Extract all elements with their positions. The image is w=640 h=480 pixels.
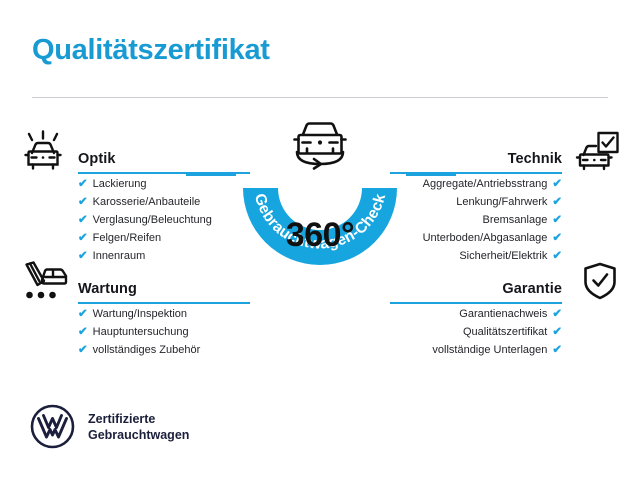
- list-item: ✔Wartung/Inspektion: [78, 304, 250, 322]
- check-icon: ✔: [552, 178, 562, 190]
- section-underline: [390, 302, 562, 304]
- list-item-label: Hauptuntersuchung: [93, 326, 189, 338]
- section-underline: [390, 172, 562, 174]
- list-item: Aggregate/Antriebsstrang✔: [390, 174, 562, 192]
- page-title: Qualitätszertifikat: [32, 34, 270, 67]
- section-title: Wartung: [78, 281, 250, 302]
- list-item-label: Karosserie/Anbauteile: [93, 196, 201, 208]
- list-item: Garantienachweis✔: [390, 304, 562, 322]
- list-item: ✔vollständiges Zubehör: [78, 340, 250, 358]
- list-item-label: Bremsanlage: [483, 214, 548, 226]
- check-icon: ✔: [78, 326, 88, 338]
- section-technik: Technik Aggregate/Antriebsstrang✔ Lenkun…: [390, 128, 620, 264]
- section-title-wrap-technik: Technik: [390, 151, 562, 174]
- footer-line-1: Zertifizierte: [88, 411, 189, 427]
- list-item-label: Aggregate/Antriebsstrang: [423, 178, 548, 190]
- list-item-label: Lenkung/Fahrwerk: [456, 196, 547, 208]
- check-icon: ✔: [78, 196, 88, 208]
- checklist-wartung: ✔Wartung/Inspektion ✔Hauptuntersuchung ✔…: [20, 304, 250, 358]
- section-garantie: Garantie Garantienachweis✔ Qualitätszert…: [390, 258, 620, 358]
- check-icon: ✔: [552, 196, 562, 208]
- list-item-label: Qualitätszertifikat: [463, 326, 547, 338]
- list-item-label: Wartung/Inspektion: [93, 308, 187, 320]
- section-title: Garantie: [390, 281, 562, 302]
- section-header-optik: Optik: [20, 128, 250, 174]
- list-item: Unterboden/Abgasanlage✔: [390, 228, 562, 246]
- car-checkbox-icon: [566, 128, 620, 174]
- checklist-technik: Aggregate/Antriebsstrang✔ Lenkung/Fahrwe…: [390, 174, 620, 264]
- check-icon: ✔: [552, 214, 562, 226]
- list-item-label: Felgen/Reifen: [93, 232, 162, 244]
- header-divider: [32, 97, 608, 98]
- section-header-wartung: Wartung: [20, 258, 250, 304]
- list-item-label: Verglasung/Beleuchtung: [93, 214, 212, 226]
- check-icon: ✔: [552, 326, 562, 338]
- list-item: ✔Verglasung/Beleuchtung: [78, 210, 250, 228]
- check-icon: ✔: [552, 232, 562, 244]
- list-item: Bremsanlage✔: [390, 210, 562, 228]
- section-optik: Optik ✔Lackierung ✔Karosserie/Anbauteile…: [20, 128, 250, 264]
- list-item-label: vollständiges Zubehör: [93, 344, 201, 356]
- section-wartung: Wartung ✔Wartung/Inspektion ✔Hauptunters…: [20, 258, 250, 358]
- check-icon: ✔: [78, 214, 88, 226]
- footer-text: Zertifizierte Gebrauchtwagen: [88, 411, 189, 443]
- section-underline: [78, 302, 250, 304]
- section-title-wrap-garantie: Garantie: [390, 281, 562, 304]
- section-title-wrap-wartung: Wartung: [78, 281, 250, 304]
- list-item: Qualitätszertifikat✔: [390, 322, 562, 340]
- badge-360-gebrauchtwagen-check: Gebrauchtwagen-Check 360°: [231, 112, 409, 308]
- list-item: vollständige Unterlagen✔: [390, 340, 562, 358]
- section-title: Optik: [78, 151, 250, 172]
- list-item-label: Unterboden/Abgasanlage: [423, 232, 548, 244]
- section-title: Technik: [390, 151, 562, 172]
- section-underline: [78, 172, 250, 174]
- footer-brand: Zertifizierte Gebrauchtwagen: [30, 404, 189, 449]
- list-item: ✔Karosserie/Anbauteile: [78, 192, 250, 210]
- check-icon: ✔: [78, 344, 88, 356]
- check-icon: ✔: [552, 344, 562, 356]
- car-shine-icon: [20, 128, 74, 174]
- check-icon: ✔: [78, 308, 88, 320]
- checklist-optik: ✔Lackierung ✔Karosserie/Anbauteile ✔Verg…: [20, 174, 250, 264]
- list-item: Lenkung/Fahrwerk✔: [390, 192, 562, 210]
- list-item-label: Lackierung: [93, 178, 147, 190]
- car-rotate-icon: [283, 112, 357, 176]
- check-icon: ✔: [78, 232, 88, 244]
- pen-car-service-icon: [20, 258, 74, 304]
- list-item: ✔Lackierung: [78, 174, 250, 192]
- list-item-label: Garantienachweis: [459, 308, 547, 320]
- list-item: ✔Felgen/Reifen: [78, 228, 250, 246]
- section-header-technik: Technik: [390, 128, 620, 174]
- check-icon: ✔: [552, 308, 562, 320]
- vw-logo: [30, 404, 75, 449]
- footer-line-2: Gebrauchtwagen: [88, 427, 189, 443]
- badge-center-label: 360°: [231, 216, 409, 255]
- shield-check-icon: [566, 258, 620, 304]
- list-item-label: vollständige Unterlagen: [432, 344, 547, 356]
- check-icon: ✔: [78, 178, 88, 190]
- section-header-garantie: Garantie: [390, 258, 620, 304]
- section-title-wrap-optik: Optik: [78, 151, 250, 174]
- list-item: ✔Hauptuntersuchung: [78, 322, 250, 340]
- checklist-garantie: Garantienachweis✔ Qualitätszertifikat✔ v…: [390, 304, 620, 358]
